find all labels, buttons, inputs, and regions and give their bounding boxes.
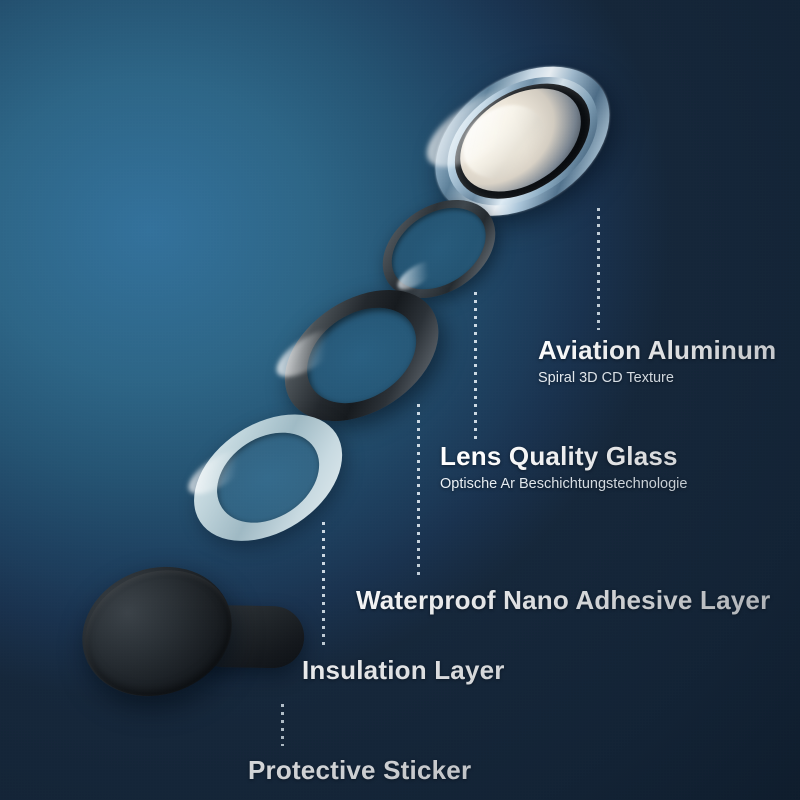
leader-line-aviation-aluminum bbox=[597, 208, 600, 330]
callout-subtitle: Spiral 3D CD Texture bbox=[538, 371, 776, 387]
callout-title: Aviation Aluminum bbox=[538, 336, 776, 365]
callout-title: Waterproof Nano Adhesive Layer bbox=[356, 586, 770, 615]
protective-sticker bbox=[64, 523, 324, 745]
callout-waterproof-nano-adhesive-layer: Waterproof Nano Adhesive Layer bbox=[356, 586, 770, 615]
callout-title: Protective Sticker bbox=[248, 756, 471, 785]
leader-line-protective-sticker bbox=[281, 704, 284, 746]
product-infographic: Aviation Aluminum Spiral 3D CD Texture L… bbox=[0, 0, 800, 800]
callout-protective-sticker: Protective Sticker bbox=[248, 756, 471, 785]
protective-sticker-edge-shading bbox=[67, 550, 250, 716]
callout-lens-quality-glass: Lens Quality Glass Optische Ar Beschicht… bbox=[440, 442, 687, 493]
leader-line-lens-quality-glass bbox=[474, 292, 477, 440]
callout-title: Insulation Layer bbox=[302, 656, 505, 685]
callout-insulation-layer: Insulation Layer bbox=[302, 656, 505, 685]
leader-line-insulation-layer bbox=[322, 522, 325, 646]
callout-subtitle: Optische Ar Beschichtungstechnologie bbox=[440, 477, 687, 493]
leader-line-waterproof-nano bbox=[417, 404, 420, 576]
callout-title: Lens Quality Glass bbox=[440, 442, 687, 471]
callout-aviation-aluminum: Aviation Aluminum Spiral 3D CD Texture bbox=[538, 336, 776, 387]
